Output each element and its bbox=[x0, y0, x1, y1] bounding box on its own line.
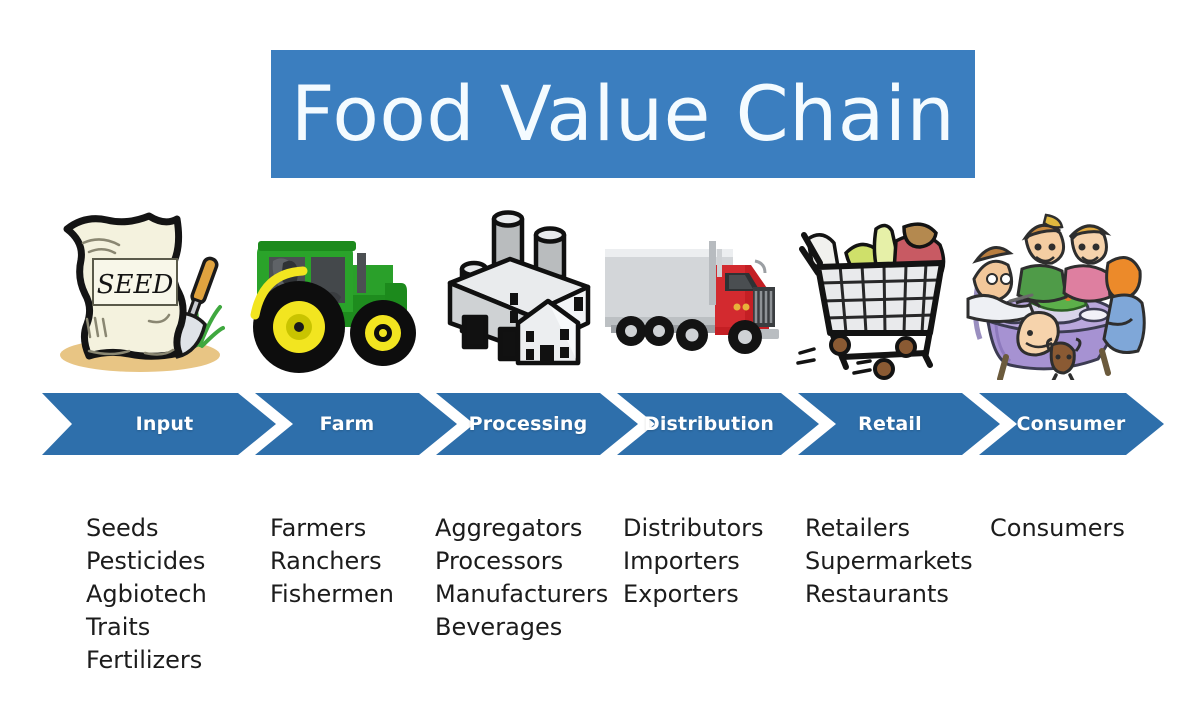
list-item: Manufacturers bbox=[435, 578, 608, 611]
list-item: Agbiotech bbox=[86, 578, 207, 611]
list-item: Importers bbox=[623, 545, 764, 578]
seed-bag-illustration: SEED bbox=[45, 205, 225, 380]
column-input: Seeds Pesticides Agbiotech Traits Fertil… bbox=[86, 512, 207, 677]
chevron-label-farm[interactable]: Farm bbox=[257, 393, 437, 455]
process-chevron-band: Input Farm Processing Distribution Retai… bbox=[42, 393, 1164, 455]
list-item: Supermarkets bbox=[805, 545, 973, 578]
list-item: Beverages bbox=[435, 611, 608, 644]
truck-illustration bbox=[597, 205, 782, 380]
illustration-row: SEED bbox=[0, 205, 1200, 380]
shopping-cart-illustration bbox=[784, 205, 959, 380]
column-distribution: Distributors Importers Exporters bbox=[623, 512, 764, 611]
list-item: Processors bbox=[435, 545, 608, 578]
family-dining-illustration bbox=[962, 205, 1147, 380]
seed-bag-label: SEED bbox=[97, 270, 174, 300]
tractor-illustration bbox=[225, 205, 425, 380]
list-item: Retailers bbox=[805, 512, 973, 545]
list-item: Aggregators bbox=[435, 512, 608, 545]
chevron-label-retail[interactable]: Retail bbox=[800, 393, 980, 455]
list-item: Traits bbox=[86, 611, 207, 644]
column-consumer: Consumers bbox=[990, 512, 1125, 545]
diagram-canvas: Food Value Chain bbox=[0, 0, 1200, 720]
list-item: Pesticides bbox=[86, 545, 207, 578]
chevron-label-processing[interactable]: Processing bbox=[438, 393, 618, 455]
list-item: Fishermen bbox=[270, 578, 394, 611]
list-item: Distributors bbox=[623, 512, 764, 545]
stage-detail-columns: Seeds Pesticides Agbiotech Traits Fertil… bbox=[0, 512, 1200, 712]
chevron-label-consumer[interactable]: Consumer bbox=[981, 393, 1161, 455]
list-item: Ranchers bbox=[270, 545, 394, 578]
list-item: Exporters bbox=[623, 578, 764, 611]
column-farm: Farmers Ranchers Fishermen bbox=[270, 512, 394, 611]
chevron-label-distribution[interactable]: Distribution bbox=[619, 393, 799, 455]
factory-illustration bbox=[422, 205, 597, 380]
title-banner: Food Value Chain bbox=[271, 50, 975, 178]
chevron-label-input[interactable]: Input bbox=[72, 393, 257, 455]
column-processing: Aggregators Processors Manufacturers Bev… bbox=[435, 512, 608, 644]
list-item: Restaurants bbox=[805, 578, 973, 611]
list-item: Fertilizers bbox=[86, 644, 207, 677]
column-retail: Retailers Supermarkets Restaurants bbox=[805, 512, 973, 611]
list-item: Consumers bbox=[990, 512, 1125, 545]
list-item: Seeds bbox=[86, 512, 207, 545]
list-item: Farmers bbox=[270, 512, 394, 545]
page-title: Food Value Chain bbox=[291, 76, 955, 152]
